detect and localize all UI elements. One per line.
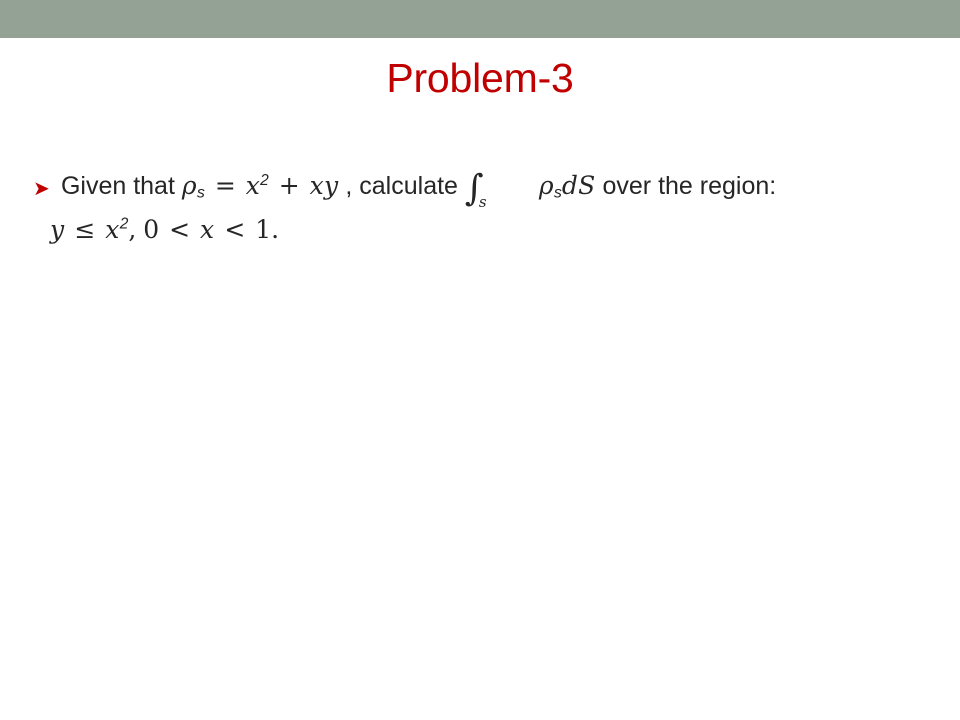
slide-body: ➤ Given that ρs = x2 + xy , calculate ∫ … xyxy=(33,164,933,252)
slide-canvas: Problem-3 ➤ Given that ρs = x2 + xy , ca… xyxy=(0,0,960,720)
line1-lead-text: Given that xyxy=(61,172,182,200)
rho2-subscript-s: s xyxy=(554,185,562,202)
rho-symbol: ρ xyxy=(182,171,197,200)
integral-operator: ∫ s xyxy=(465,164,499,211)
dS-differential: dS xyxy=(562,171,596,200)
less-than-operator-2: < xyxy=(221,215,248,244)
x-variable: x xyxy=(246,171,260,200)
bullet-line-1: ➤ Given that ρs = x2 + xy , calculate ∫ … xyxy=(33,164,933,208)
end-period: . xyxy=(271,215,279,244)
one-bound: 1 xyxy=(255,215,271,244)
slide-top-band xyxy=(0,0,960,38)
zero-bound: 0 xyxy=(143,215,159,244)
arrow-bullet-icon: ➤ xyxy=(33,166,53,210)
line1-tail-text: over the region: xyxy=(603,172,777,200)
x-variable-line2: x xyxy=(105,215,119,244)
y-variable: y xyxy=(50,215,64,244)
less-than-operator-1: < xyxy=(166,215,193,244)
page-title: Problem-3 xyxy=(0,52,960,104)
xy-term: xy xyxy=(310,171,339,200)
calculate-text: , calculate xyxy=(345,172,465,200)
bullet-line-2: y ≤ x2, 0 < x < 1. xyxy=(33,208,933,252)
plus-operator: + xyxy=(276,171,303,200)
rho-subscript-s: s xyxy=(197,185,205,202)
x-exponent-2: 2 xyxy=(260,172,269,189)
x-variable-bounded: x xyxy=(200,215,214,244)
comma-separator: , xyxy=(128,215,136,244)
equals-operator: = xyxy=(212,171,239,200)
less-equal-operator: ≤ xyxy=(71,215,98,244)
rho-symbol-2: ρ xyxy=(539,171,554,200)
